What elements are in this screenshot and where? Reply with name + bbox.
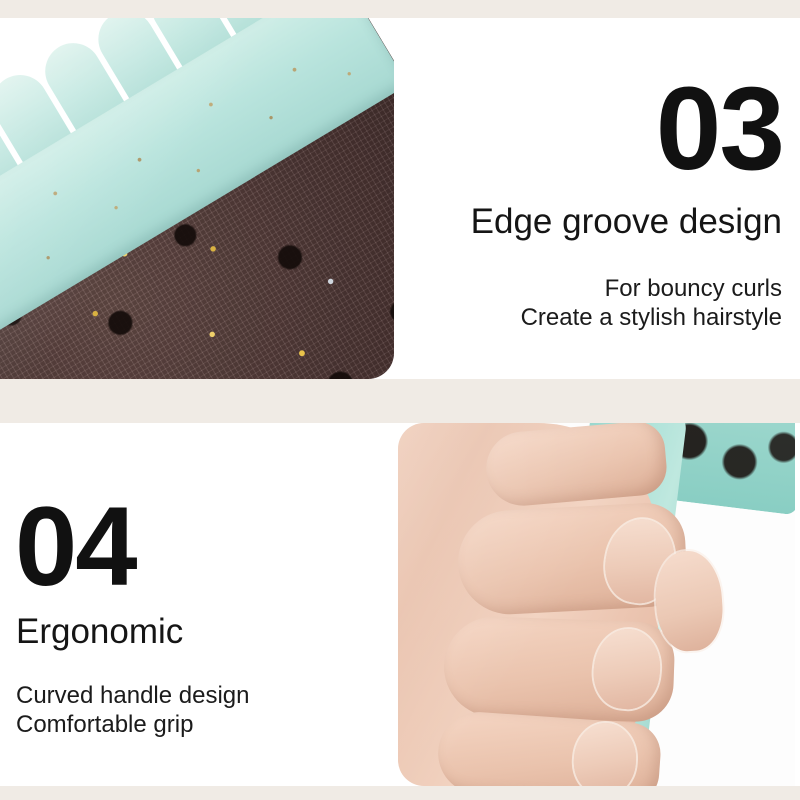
feature-03-photo (0, 18, 394, 379)
feature-04-title: Ergonomic (16, 613, 183, 652)
feature-04-number: 04 (15, 491, 136, 603)
feature-04-photo (398, 423, 795, 786)
feature-04-subtitle: Curved handle design Comfortable grip (16, 681, 250, 740)
feature-03-text-block: 03 Edge groove design For bouncy curls C… (400, 18, 800, 379)
feature-03-title: Edge groove design (471, 203, 782, 242)
feature-03-subtitle: For bouncy curls Create a stylish hairst… (521, 274, 782, 333)
top-divider-band (0, 0, 800, 18)
feature-03-subtitle-line2: Create a stylish hairstyle (521, 303, 782, 332)
feature-03-subtitle-line1: For bouncy curls (521, 274, 782, 303)
middle-divider-band (0, 379, 800, 423)
product-feature-page: 03 Edge groove design For bouncy curls C… (0, 0, 800, 800)
feature-04-subtitle-line2: Comfortable grip (16, 710, 250, 739)
feature-04-text-block: 04 Ergonomic Curved handle design Comfor… (0, 423, 398, 786)
feature-04-subtitle-line1: Curved handle design (16, 681, 250, 710)
feature-03-number: 03 (656, 70, 783, 188)
bottom-divider-band (0, 786, 800, 800)
